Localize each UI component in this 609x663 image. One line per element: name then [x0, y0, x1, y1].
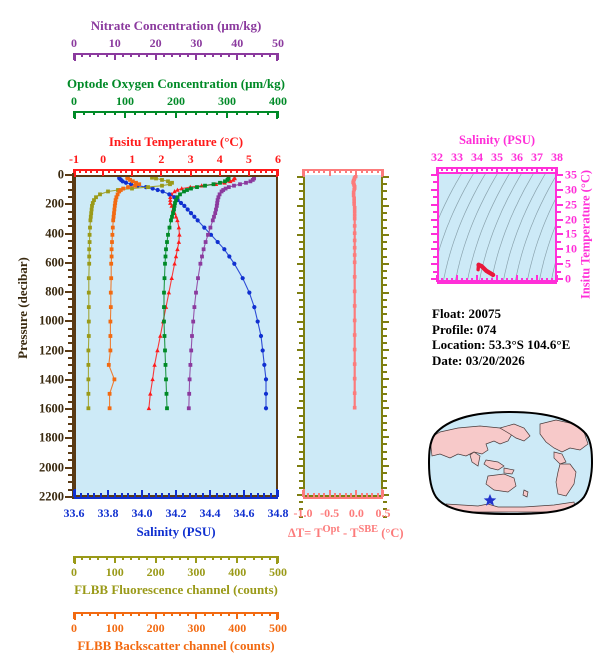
- pressure-tick-label: 2000: [39, 460, 64, 475]
- delta-t-title-sup-opt: Opt: [323, 524, 340, 535]
- tick-label: 34: [471, 150, 483, 165]
- tick-label: 200: [147, 565, 165, 580]
- delta-t-marker: [353, 206, 357, 210]
- tick-label: 500: [269, 621, 287, 636]
- metadata-date-row: Date: 03/20/2026: [432, 353, 570, 369]
- metadata-profile-value: 074: [477, 322, 497, 337]
- tick-label: 38: [551, 150, 563, 165]
- delta-t-title-lead: ΔT= T: [288, 526, 323, 540]
- salinity-axis-ruler: [74, 497, 278, 504]
- tick-label: 500: [269, 565, 287, 580]
- profile-metadata: Float: 20075 Profile: 074 Location: 53.3…: [432, 306, 570, 368]
- profile-markers-fluorescence: [87, 177, 174, 410]
- delta-t-title-sup-sbe: SBE: [358, 524, 378, 535]
- pressure-tick-label: 1200: [39, 343, 64, 358]
- metadata-location-value: 53.3°S 104.6°E: [489, 337, 571, 352]
- metadata-float-label: Float:: [432, 306, 465, 321]
- delta-t-marker: [352, 202, 356, 206]
- delta-t-marker: [353, 333, 357, 337]
- tick-label: 2: [158, 152, 164, 167]
- profile-line-fluorescence: [88, 178, 172, 409]
- delta-t-marker: [353, 231, 357, 235]
- tick-label: 400: [228, 565, 246, 580]
- profile-plot-area[interactable]: [74, 175, 278, 497]
- ts-isopycnals: [439, 174, 555, 280]
- tick-label: 35: [491, 150, 503, 165]
- metadata-location-label: Location:: [432, 337, 485, 352]
- tick-label: 100: [116, 94, 134, 109]
- oxygen-axis-ruler: [74, 111, 278, 118]
- oxygen-tick-labels: 0100200300400: [74, 94, 278, 108]
- ts-temperature-title: Insitu Temperature (°C): [579, 170, 594, 300]
- tick-label: 200: [167, 94, 185, 109]
- delta-t-tick-labels: -1.0-0.50.00.5: [303, 506, 383, 520]
- delta-t-marker: [353, 246, 357, 250]
- ts-left-ticks: [431, 172, 437, 282]
- pressure-tick-label: 400: [45, 226, 64, 241]
- tick-label: 200: [147, 621, 165, 636]
- pressure-tick-label: 0: [58, 168, 64, 183]
- delta-t-axis-ruler: [303, 169, 383, 176]
- tick-label: 300: [218, 94, 236, 109]
- tick-label: 33.8: [98, 506, 119, 521]
- salinity-axis-title: Salinity (PSU): [74, 524, 278, 540]
- nitrate-tick-labels: 01020304050: [74, 36, 278, 50]
- temperature-axis-title: Insitu Temperature (°C): [74, 134, 278, 150]
- ts-right-ticks: [557, 172, 563, 282]
- backscatter-axis-title: FLBB Backscatter channel (counts): [58, 638, 294, 654]
- tick-label: 100: [106, 621, 124, 636]
- fluorescence-axis-ruler: [74, 556, 278, 563]
- fluorescence-tick-labels: 0100200300400500: [74, 565, 278, 579]
- fluorescence-axis-title: FLBB Fluorescence channel (counts): [58, 582, 294, 598]
- tick-label: 32: [431, 150, 443, 165]
- delta-t-marker: [353, 348, 357, 352]
- tick-label: 6: [275, 152, 281, 167]
- ts-temperature-tick-label: 30: [565, 182, 577, 197]
- pressure-tick-label: 1600: [39, 402, 64, 417]
- world-locator-map[interactable]: [428, 408, 593, 518]
- tick-label: 0: [71, 565, 77, 580]
- tick-label: 0.5: [376, 506, 391, 521]
- delta-t-marker: [353, 210, 357, 214]
- tick-label: 0: [71, 621, 77, 636]
- metadata-location-row: Location: 53.3°S 104.6°E: [432, 337, 570, 353]
- tick-label: -1: [69, 152, 79, 167]
- salinity-tick-labels: 33.633.834.034.234.434.634.8: [74, 506, 278, 520]
- tick-label: 37: [531, 150, 543, 165]
- tick-label: 0.0: [349, 506, 364, 521]
- tick-label: 34.2: [166, 506, 187, 521]
- tick-label: 400: [228, 621, 246, 636]
- tick-label: 4: [217, 152, 223, 167]
- tick-label: -1.0: [294, 506, 313, 521]
- delta-t-left-ticks: [297, 175, 303, 497]
- tick-label: 20: [150, 36, 162, 51]
- metadata-date-value: 03/20/2026: [466, 353, 525, 368]
- tick-label: 300: [187, 565, 205, 580]
- delta-t-axis-title: ΔT= TOpt - TSBE (°C): [288, 524, 400, 541]
- delta-t-marker: [353, 224, 357, 228]
- delta-t-marker: [353, 217, 357, 221]
- tick-label: 300: [187, 621, 205, 636]
- tick-label: -0.5: [320, 506, 339, 521]
- ts-temperature-tick-label: 20: [565, 212, 577, 227]
- tick-label: 34.6: [234, 506, 255, 521]
- pressure-tick-label: 1800: [39, 431, 64, 446]
- tick-label: 1: [129, 152, 135, 167]
- temperature-axis-ruler: [74, 169, 278, 176]
- tick-label: 0: [71, 36, 77, 51]
- metadata-profile-row: Profile: 074: [432, 322, 570, 338]
- metadata-float-row: Float: 20075: [432, 306, 570, 322]
- profile-markers-salinity: [117, 177, 268, 410]
- tick-label: 100: [106, 565, 124, 580]
- backscatter-axis-ruler: [74, 612, 278, 619]
- nitrate-axis-title: Nitrate Concentration (μm/kg): [74, 18, 278, 34]
- delta-t-marker: [353, 290, 357, 294]
- temperature-tick-labels: -10123456: [74, 152, 278, 166]
- delta-t-marker: [353, 213, 357, 217]
- ts-salinity-title: Salinity (PSU): [437, 133, 557, 148]
- metadata-date-label: Date:: [432, 353, 462, 368]
- nitrate-axis-ruler: [74, 53, 278, 60]
- tick-label: 0: [100, 152, 106, 167]
- ts-data-trace-upper: [478, 264, 479, 269]
- tick-label: 34.8: [268, 506, 289, 521]
- pressure-tick-label: 1000: [39, 314, 64, 329]
- delta-t-marker: [353, 260, 357, 264]
- ts-temperature-tick-label: 0: [565, 272, 571, 287]
- ts-temperature-tick-label: 15: [565, 227, 577, 242]
- tick-label: 10: [109, 36, 121, 51]
- pressure-tick-label: 800: [45, 285, 64, 300]
- tick-label: 3: [188, 152, 194, 167]
- tick-label: 33.6: [64, 506, 85, 521]
- delta-t-marker: [353, 362, 357, 366]
- oxygen-axis-title: Optode Oxygen Concentration (μm/kg): [59, 76, 293, 92]
- pressure-tick-label: 600: [45, 255, 64, 270]
- tick-label: 33: [451, 150, 463, 165]
- delta-t-bottom-ruler: [303, 497, 383, 504]
- ts-temperature-tick-label: 10: [565, 242, 577, 257]
- metadata-float-value: 20075: [468, 306, 501, 321]
- profile-line-nitrate: [189, 178, 254, 409]
- profile-curves: [76, 177, 276, 495]
- delta-t-marker: [353, 304, 357, 308]
- profile-markers-nitrate: [187, 177, 256, 410]
- tick-label: 36: [511, 150, 523, 165]
- tick-label: 40: [231, 36, 243, 51]
- temperature-salinity-diagram[interactable]: [437, 172, 557, 282]
- delta-t-marker: [353, 253, 357, 257]
- pressure-axis-ruler: [66, 173, 74, 499]
- ts-salinity-tick-labels: 32333435363738: [437, 150, 557, 164]
- delta-t-marker: [353, 275, 357, 279]
- ts-temperature-tick-label: 5: [565, 257, 571, 272]
- tick-label: 0: [71, 94, 77, 109]
- delta-t-marker: [353, 319, 357, 323]
- isopycnal-contours: [439, 174, 555, 280]
- pressure-tick-label: 200: [45, 197, 64, 212]
- delta-t-marker: [353, 239, 357, 243]
- tick-label: 400: [269, 94, 287, 109]
- backscatter-tick-labels: 0100200300400500: [74, 621, 278, 635]
- tick-label: 5: [246, 152, 252, 167]
- pressure-tick-label: 2200: [39, 490, 64, 505]
- world-map-graphic: [428, 408, 593, 518]
- delta-t-title-tail: (°C): [378, 526, 403, 540]
- pressure-axis-title: Pressure (decibar): [15, 248, 31, 368]
- delta-t-marker: [353, 406, 357, 410]
- delta-t-curve: [305, 175, 381, 495]
- delta-t-plot-area[interactable]: [303, 175, 383, 497]
- tick-label: 34.0: [132, 506, 153, 521]
- tick-label: 34.4: [200, 506, 221, 521]
- delta-t-marker: [353, 377, 357, 381]
- delta-t-marker: [353, 391, 357, 395]
- pressure-tick-label: 1400: [39, 372, 64, 387]
- profile-markers-backscatter: [107, 177, 141, 410]
- ts-bottom-ruler: [437, 282, 557, 289]
- delta-t-title-mid: - T: [340, 526, 359, 540]
- tick-label: 30: [190, 36, 202, 51]
- ts-temperature-tick-label: 35: [565, 168, 577, 183]
- ts-temperature-tick-label: 25: [565, 197, 577, 212]
- delta-t-right-ticks: [383, 175, 389, 497]
- tick-label: 50: [272, 36, 284, 51]
- metadata-profile-label: Profile:: [432, 322, 474, 337]
